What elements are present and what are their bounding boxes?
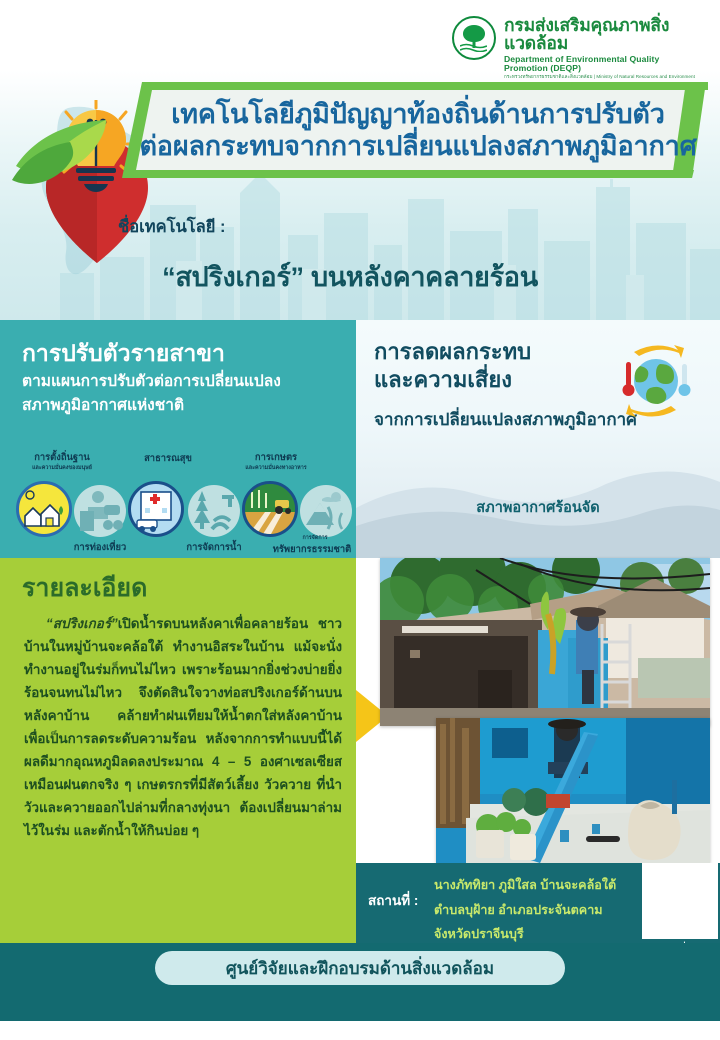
photo-pipe-work-image: [436, 718, 710, 863]
bottom-white-strip: [0, 1021, 720, 1040]
technology-label: ชื่อเทคโนโลยี :: [118, 214, 226, 240]
deqp-logo-icon: [452, 16, 496, 60]
detail-heading: รายละเอียด: [22, 568, 147, 608]
tourism-icon: [74, 485, 126, 537]
globe-thermometer-icon: [606, 342, 702, 420]
sector-sublabel-settlement: และความมั่นคงของมนุษย์: [2, 464, 122, 472]
header-band: กรมส่งเสริมคุณภาพสิ่งแวดล้อม Department …: [0, 0, 720, 320]
deqp-logo: กรมส่งเสริมคุณภาพสิ่งแวดล้อม Department …: [452, 16, 704, 70]
logo-name-english: Department of Environmental Quality Prom…: [504, 55, 704, 72]
sector-icon-tourism[interactable]: [74, 485, 126, 537]
detail-keyword: “สปริงเกอร์”: [46, 616, 118, 631]
photo-roof-sprinkler-image: [380, 558, 710, 726]
footer-bar: ศูนย์วิจัยและฝึกอบรมด้านสิ่งแวดล้อม: [0, 943, 720, 1021]
sector-label-settlement: การตั้งถิ่นฐาน: [2, 450, 122, 465]
sector-label-water: การจัดการน้ำ: [158, 540, 270, 555]
mitigation-subheading: จากการเปลี่ยนแปลงสภาพภูมิอากาศ: [374, 406, 637, 433]
footer-text: ศูนย์วิจัยและฝึกอบรมด้านสิ่งแวดล้อม: [226, 955, 494, 982]
water-tap-icon: [188, 485, 240, 537]
wave-icon: [460, 43, 487, 52]
hospital-icon: [131, 484, 181, 534]
sector-icon-water[interactable]: [188, 485, 240, 537]
sector-icon-natural-resources[interactable]: [300, 485, 352, 537]
adaptation-subheading-line-1: ตามแผนการปรับตัวต่อการเปลี่ยนแปลง: [22, 370, 346, 394]
sector-label-tourism: การท่องเที่ยว: [44, 540, 156, 555]
photo-pipe-work: [436, 718, 710, 863]
location-text: นางภัททิยา ภูมิใสล บ้านจะคล้อใต้ ตำบลบุฝ…: [434, 873, 644, 947]
page-title: เทคโนโลยีภูมิปัญญาท้องถิ่นด้านการปรับตัว…: [140, 88, 696, 174]
qr-white-bg: [642, 863, 718, 939]
sector-label-public-health: สาธารณสุข: [108, 451, 228, 466]
location-line-2: ตำบลบุฝ้าย อำเภอประจันตคาม: [434, 898, 644, 923]
sector-icon-settlement[interactable]: [16, 481, 72, 537]
poster-root: กรมส่งเสริมคุณภาพสิ่งแวดล้อม Department …: [0, 0, 720, 1040]
logo-ministry-line: กระทรวงทรัพยากรธรรมชาติและสิ่งแวดล้อม | …: [504, 75, 704, 80]
technology-name: “สปริงเกอร์” บนหลังคาคลายร้อน: [0, 255, 700, 298]
adaptation-heading: การปรับตัวรายสาขา: [22, 336, 225, 372]
detail-panel: รายละเอียด “สปริงเกอร์”เปิดน้ำรดบนหลังคา…: [0, 558, 356, 943]
sector-icon-agriculture[interactable]: [242, 481, 298, 537]
location-label: สถานที่ :: [368, 889, 418, 911]
mountain-icon: [300, 485, 352, 537]
location-line-1: นางภัททิยา ภูมิใสล บ้านจะคล้อใต้: [434, 873, 644, 898]
page-title-line-1: เทคโนโลยีภูมิปัญญาท้องถิ่นด้านการปรับตัว: [171, 99, 664, 131]
mitigation-panel: การลดผลกระทบ และความเสี่ยง จากการเปลี่ยน…: [356, 320, 720, 558]
mitigation-heading: การลดผลกระทบ และความเสี่ยง: [374, 338, 531, 394]
footer-pill[interactable]: ศูนย์วิจัยและฝึกอบรมด้านสิ่งแวดล้อม: [155, 951, 565, 985]
logo-name-thai: กรมส่งเสริมคุณภาพสิ่งแวดล้อม: [504, 17, 704, 52]
photo-roof-sprinkler: [380, 558, 710, 726]
mitigation-caption: สภาพอากาศร้อนจัด: [356, 496, 720, 519]
adaptation-subheading: ตามแผนการปรับตัวต่อการเปลี่ยนแปลง สภาพภู…: [22, 370, 346, 417]
farm-icon: [245, 484, 295, 534]
sector-icon-public-health[interactable]: [128, 481, 184, 537]
village-icon: [19, 484, 69, 534]
adaptation-subheading-line-2: สภาพภูมิอากาศแห่งชาติ: [22, 394, 346, 418]
mitigation-heading-line-1: การลดผลกระทบ: [374, 338, 531, 366]
detail-body-text: “สปริงเกอร์”เปิดน้ำรดบนหลังคาเพื่อคลายร้…: [24, 612, 342, 842]
sector-label-agriculture: การเกษตร: [216, 450, 336, 465]
page-title-line-2: ต่อผลกระทบจากการเปลี่ยนแปลงสภาพภูมิอากาศ: [139, 131, 696, 163]
sector-label-natural-resources: ทรัพยากรธรรมชาติ: [262, 542, 362, 557]
mitigation-heading-line-2: และความเสี่ยง: [374, 366, 531, 394]
sector-icon-row: การตั้งถิ่นฐาน และความมั่นคงของมนุษย์ สา…: [4, 452, 356, 556]
sector-sublabel-natural-resources: การจัดการ: [270, 534, 360, 542]
detail-body-rest: เปิดน้ำรดบนหลังคาเพื่อคลายร้อน ชาวบ้านใน…: [24, 616, 342, 838]
sector-sublabel-agriculture: และความมั่นคงทางอาหาร: [216, 464, 336, 472]
leaf-icon: [10, 118, 114, 194]
